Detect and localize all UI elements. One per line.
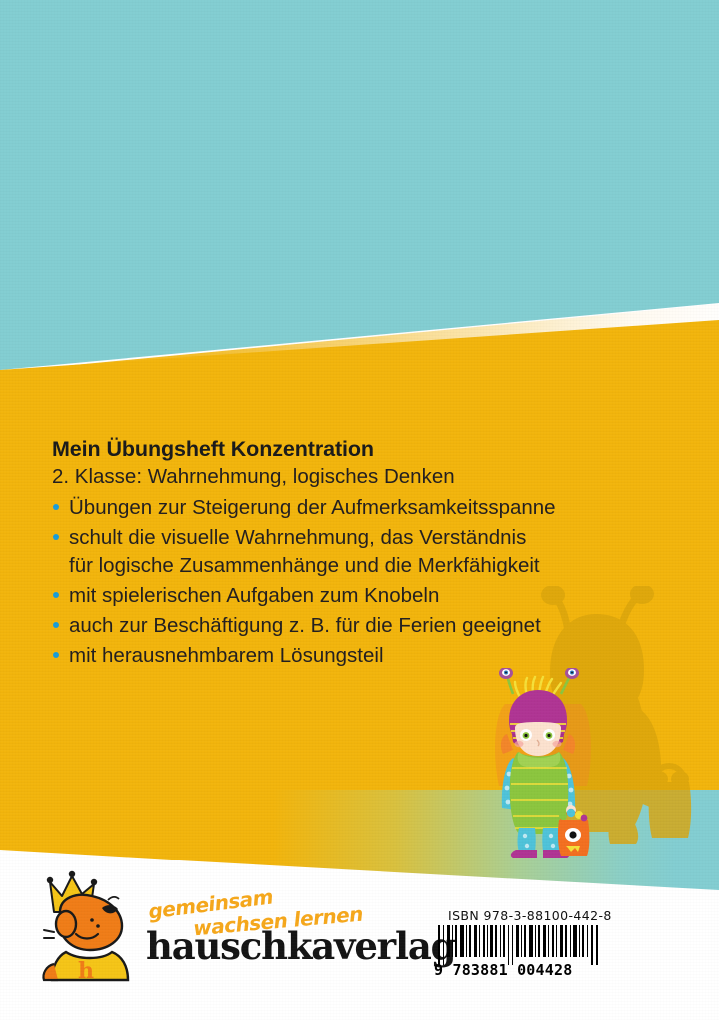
feature-line-1: mit herausnehmbarem Lösungsteil — [69, 642, 612, 670]
page-title: Mein Übungsheft Konzentration — [52, 436, 612, 462]
subtitle: 2. Klasse: Wahrnehmung, logisches Denken — [52, 463, 612, 490]
bullet-dot-icon — [53, 592, 59, 598]
barcode-bars — [434, 925, 602, 965]
list-item: mit spielerischen Aufgaben zum Knobeln — [52, 582, 612, 610]
feature-line-2: für logische Zusammenhänge und die Merkf… — [69, 552, 612, 580]
bullet-dot-icon — [53, 622, 59, 628]
bullet-dot-icon — [53, 652, 59, 658]
list-item: mit herausnehmbarem Lösungsteil — [52, 642, 612, 670]
isbn-label: ISBN 978-3-88100-442-8 — [448, 908, 684, 923]
isbn-barcode-block: ISBN 978-3-88100-442-8 — [434, 908, 684, 977]
list-item: auch zur Beschäftigung z. B. für die Fer… — [52, 612, 612, 640]
child-monster-costume-illustration — [483, 668, 603, 860]
barcode: 9 783881 004428 — [434, 925, 602, 977]
svg-text:h: h — [78, 958, 94, 984]
feature-line-1: auch zur Beschäftigung z. B. für die Fer… — [69, 612, 612, 640]
marketing-copy-block: Mein Übungsheft Konzentration 2. Klasse:… — [52, 436, 612, 672]
book-back-cover: Mein Übungsheft Konzentration 2. Klasse:… — [0, 0, 719, 1020]
publisher-name: hauschkaverlag — [146, 924, 455, 968]
list-item: schult die visuelle Wahrnehmung, das Ver… — [52, 524, 612, 579]
bullet-dot-icon — [53, 534, 59, 540]
bullet-dot-icon — [53, 504, 59, 510]
feature-line-1: Übungen zur Steigerung der Aufmerksamkei… — [69, 494, 612, 522]
mascot-bear-icon: h — [36, 868, 140, 984]
barcode-digits: 9 783881 004428 — [434, 961, 602, 979]
feature-list: Übungen zur Steigerung der Aufmerksamkei… — [52, 494, 612, 669]
publisher-logo: h gemeinsam wachsen lernen hauschkaverla… — [36, 868, 426, 986]
feature-line-1: schult die visuelle Wahrnehmung, das Ver… — [69, 524, 612, 552]
list-item: Übungen zur Steigerung der Aufmerksamkei… — [52, 494, 612, 522]
feature-line-1: mit spielerischen Aufgaben zum Knobeln — [69, 582, 612, 610]
